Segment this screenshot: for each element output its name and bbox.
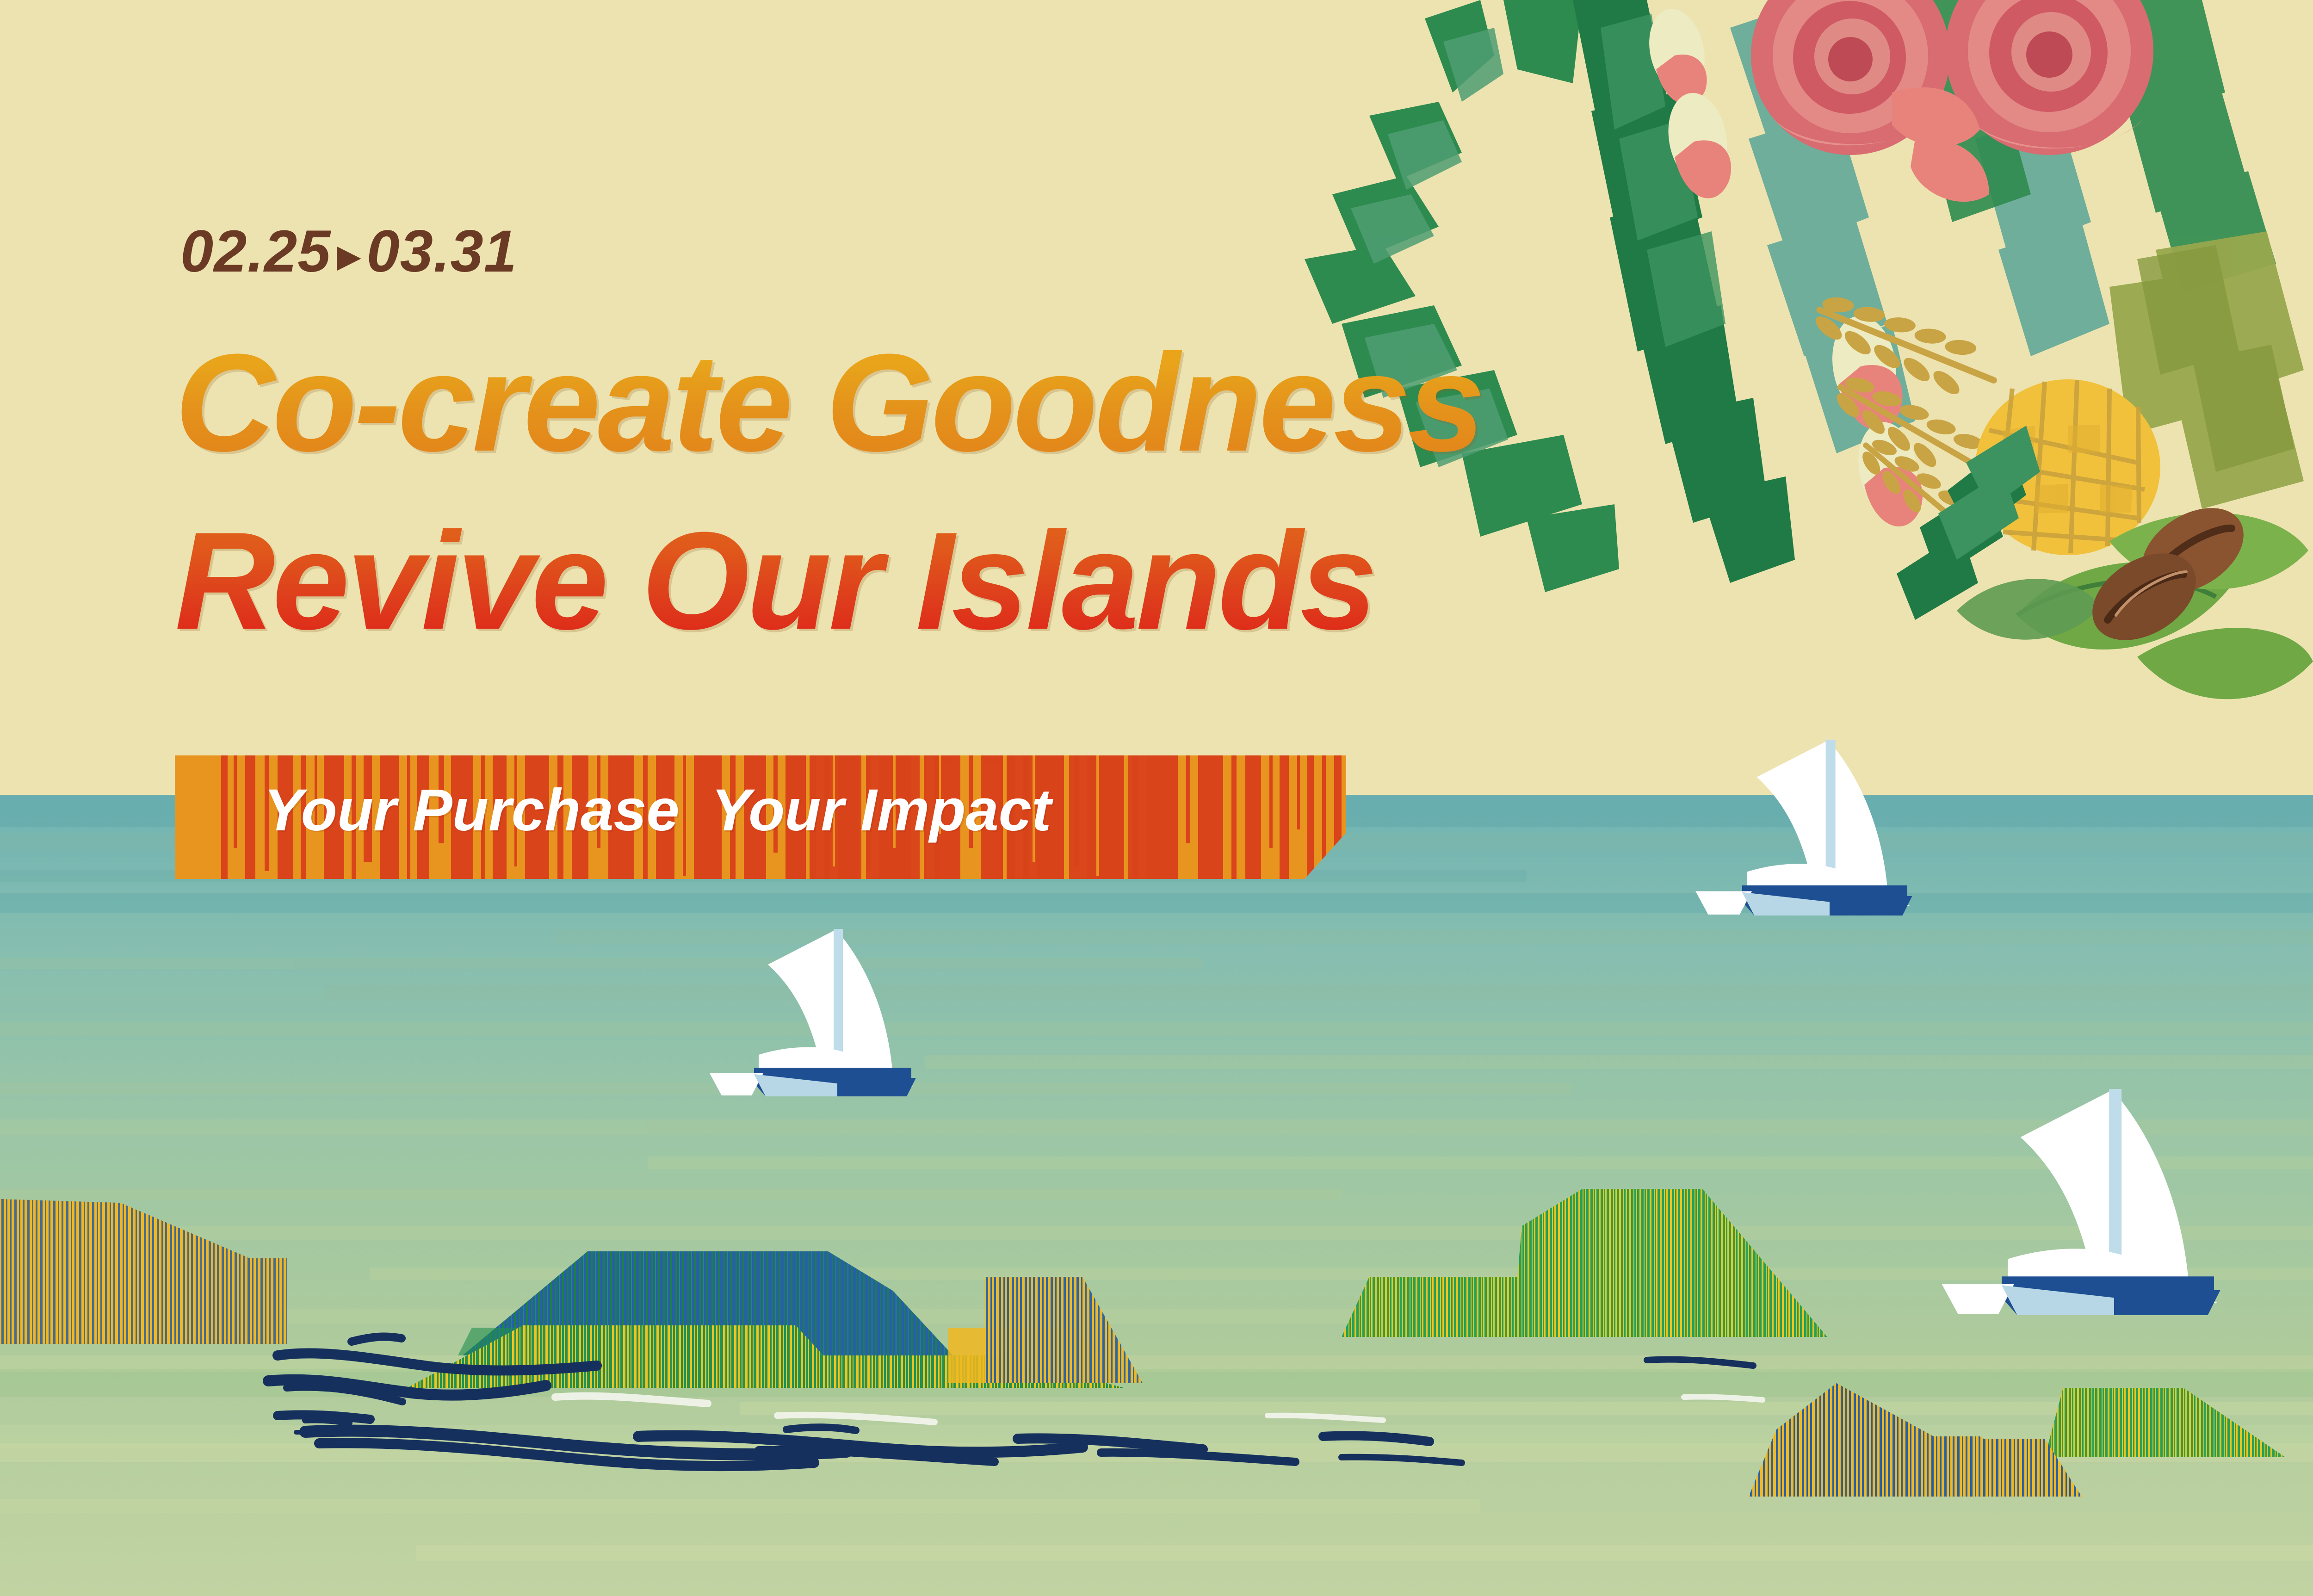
tropical-floral-corner	[0, 0, 2313, 1596]
promo-banner: 02.25▸03.31 Co-create Goodness Revive Ou…	[0, 0, 2313, 1596]
